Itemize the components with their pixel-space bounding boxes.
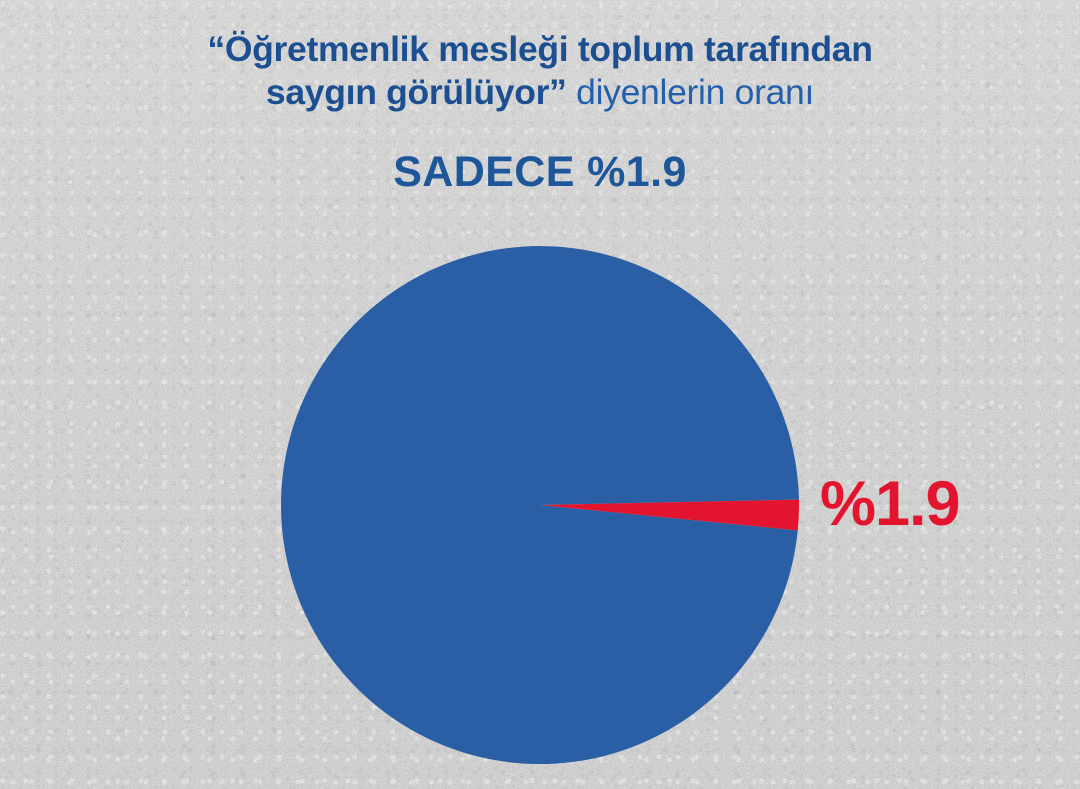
headline-line-2: saygın görülüyor” diyenlerin oranı [0,71,1080,114]
headline-line-1-quoted: “Öğretmenlik mesleği toplum tarafından [207,29,872,69]
infographic-canvas [0,0,1080,789]
headline: “Öğretmenlik mesleği toplum tarafından s… [0,28,1080,114]
pie-slice-callout-label: %1.9 [820,473,960,536]
headline-line-2-tail: diyenlerin oranı [567,72,815,112]
subtitle-sadece-value: SADECE %1.9 [0,148,1080,197]
paper-grain-texture [0,0,1080,789]
headline-line-2-quoted: saygın görülüyor” [266,72,567,112]
headline-line-1: “Öğretmenlik mesleği toplum tarafından [0,28,1080,71]
